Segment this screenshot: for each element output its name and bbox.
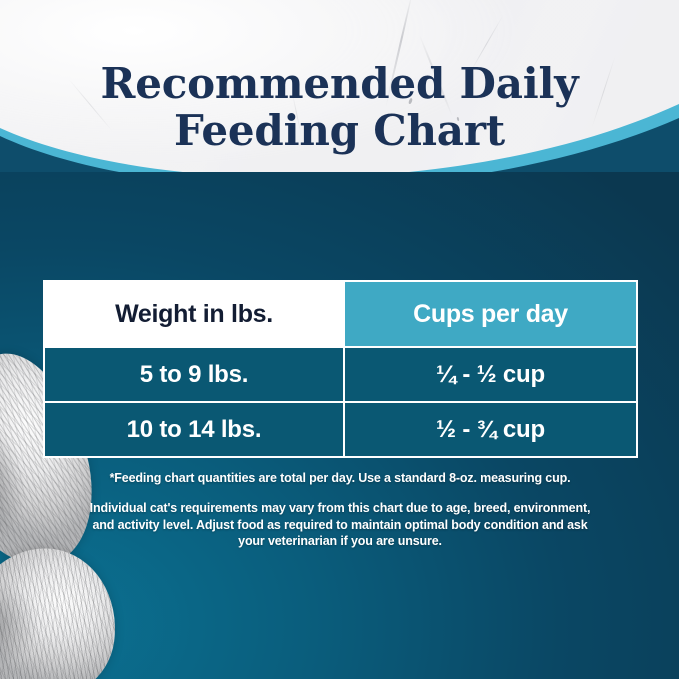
- cell-weight: 5 to 9 lbs.: [45, 346, 343, 401]
- cell-cups: ½ - ¾ cup: [343, 401, 636, 456]
- table-row: 10 to 14 lbs. ½ - ¾ cup: [45, 401, 636, 456]
- cell-cups: ¼ - ½ cup: [343, 346, 636, 401]
- page-title: Recommended Daily Feeding Chart: [0, 60, 679, 154]
- table-row: 5 to 9 lbs. ¼ - ½ cup: [45, 346, 636, 401]
- cat-fur-paw-lower-icon: [0, 538, 126, 679]
- table-header-weight: Weight in lbs.: [45, 282, 343, 346]
- asterisk-note: *Feeding chart quantities are total per …: [60, 470, 620, 486]
- table-header-row: Weight in lbs. Cups per day: [45, 282, 636, 346]
- title-line-1: Recommended Daily: [101, 59, 579, 108]
- title-line-2: Feeding Chart: [0, 107, 679, 154]
- cell-weight: 10 to 14 lbs.: [45, 401, 343, 456]
- footnotes: *Feeding chart quantities are total per …: [60, 470, 620, 550]
- feeding-chart-page: Recommended Daily Feeding Chart Weight i…: [0, 0, 679, 679]
- table-header-cups: Cups per day: [343, 282, 636, 346]
- feeding-chart-table: Weight in lbs. Cups per day 5 to 9 lbs. …: [43, 280, 638, 458]
- disclaimer-note: Individual cat's requirements may vary f…: [60, 500, 620, 550]
